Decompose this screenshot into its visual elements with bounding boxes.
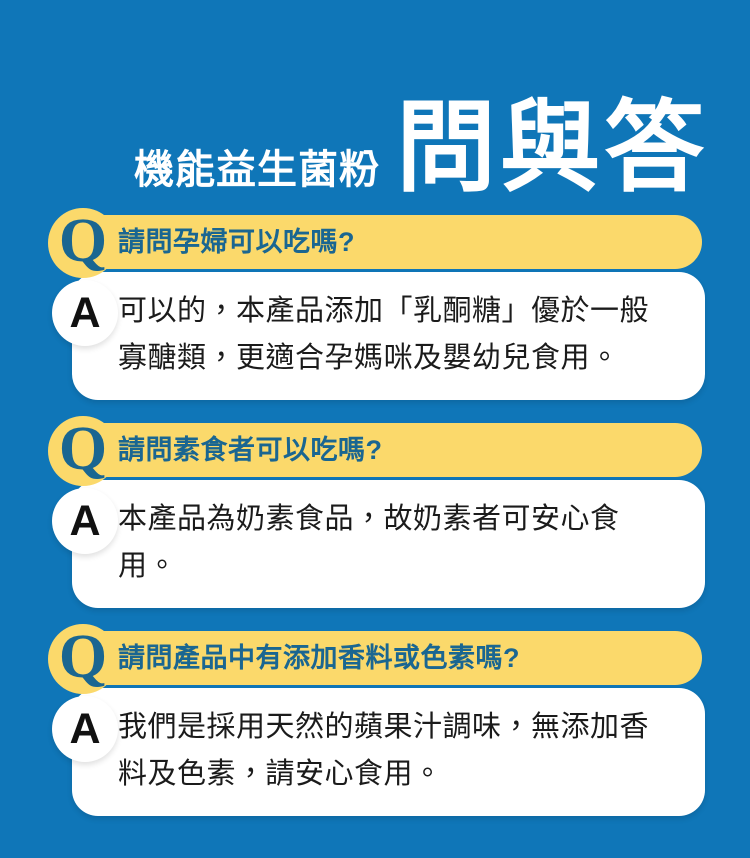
question-row: 請問產品中有添加香料或色素嗎? Q: [0, 631, 750, 685]
answer-text: 我們是採用天然的蘋果汁調味，無添加香料及色素，請安心食用。: [118, 704, 677, 798]
faq-item: 請問產品中有添加香料或色素嗎? Q 我們是採用天然的蘋果汁調味，無添加香料及色素…: [0, 631, 750, 816]
question-badge-label: Q: [59, 418, 107, 480]
question-pill: 請問孕婦可以吃嗎?: [72, 215, 702, 269]
question-badge: Q: [48, 208, 118, 278]
question-row: 請問孕婦可以吃嗎? Q: [0, 215, 750, 269]
question-text: 請問素食者可以吃嗎?: [118, 437, 383, 464]
question-text: 請問孕婦可以吃嗎?: [118, 229, 355, 256]
question-badge-label: Q: [59, 626, 107, 688]
faq-item: 請問素食者可以吃嗎? Q 本產品為奶素食品，故奶素者可安心食用。 A: [0, 423, 750, 608]
answer-badge-label: A: [69, 500, 100, 543]
header-title-group: 機能益生菌粉 問與答: [60, 99, 708, 197]
question-row: 請問素食者可以吃嗎? Q: [0, 423, 750, 477]
question-badge: Q: [48, 624, 118, 694]
answer-badge: A: [52, 696, 118, 762]
question-pill: 請問產品中有添加香料或色素嗎?: [72, 631, 702, 685]
question-text: 請問產品中有添加香料或色素嗎?: [118, 645, 520, 672]
question-badge: Q: [48, 416, 118, 486]
answer-row: 我們是採用天然的蘋果汁調味，無添加香料及色素，請安心食用。 A: [0, 688, 750, 816]
answer-badge-label: A: [69, 708, 100, 751]
question-badge-label: Q: [59, 210, 107, 272]
answer-badge: A: [52, 488, 118, 554]
answer-card: 本產品為奶素食品，故奶素者可安心食用。: [72, 480, 705, 608]
faq-item: 請問孕婦可以吃嗎? Q 可以的，本產品添加「乳酮糖」優於一般寡醣類，更適合孕媽咪…: [0, 215, 750, 400]
product-subtitle: 機能益生菌粉: [134, 150, 380, 197]
answer-text: 可以的，本產品添加「乳酮糖」優於一般寡醣類，更適合孕媽咪及嬰幼兒食用。: [118, 288, 677, 382]
answer-card: 可以的，本產品添加「乳酮糖」優於一般寡醣類，更適合孕媽咪及嬰幼兒食用。: [72, 272, 705, 400]
page-header: 機能益生菌粉 問與答: [0, 0, 750, 215]
faq-list: 請問孕婦可以吃嗎? Q 可以的，本產品添加「乳酮糖」優於一般寡醣類，更適合孕媽咪…: [0, 215, 750, 839]
answer-badge-label: A: [69, 292, 100, 335]
question-pill: 請問素食者可以吃嗎?: [72, 423, 702, 477]
answer-text: 本產品為奶素食品，故奶素者可安心食用。: [118, 496, 677, 590]
page-title: 問與答: [396, 99, 708, 197]
answer-row: 本產品為奶素食品，故奶素者可安心食用。 A: [0, 480, 750, 608]
answer-badge: A: [52, 280, 118, 346]
faq-page: { "theme": { "background": "#0f76b8", "p…: [0, 0, 750, 858]
answer-card: 我們是採用天然的蘋果汁調味，無添加香料及色素，請安心食用。: [72, 688, 705, 816]
answer-row: 可以的，本產品添加「乳酮糖」優於一般寡醣類，更適合孕媽咪及嬰幼兒食用。 A: [0, 272, 750, 400]
